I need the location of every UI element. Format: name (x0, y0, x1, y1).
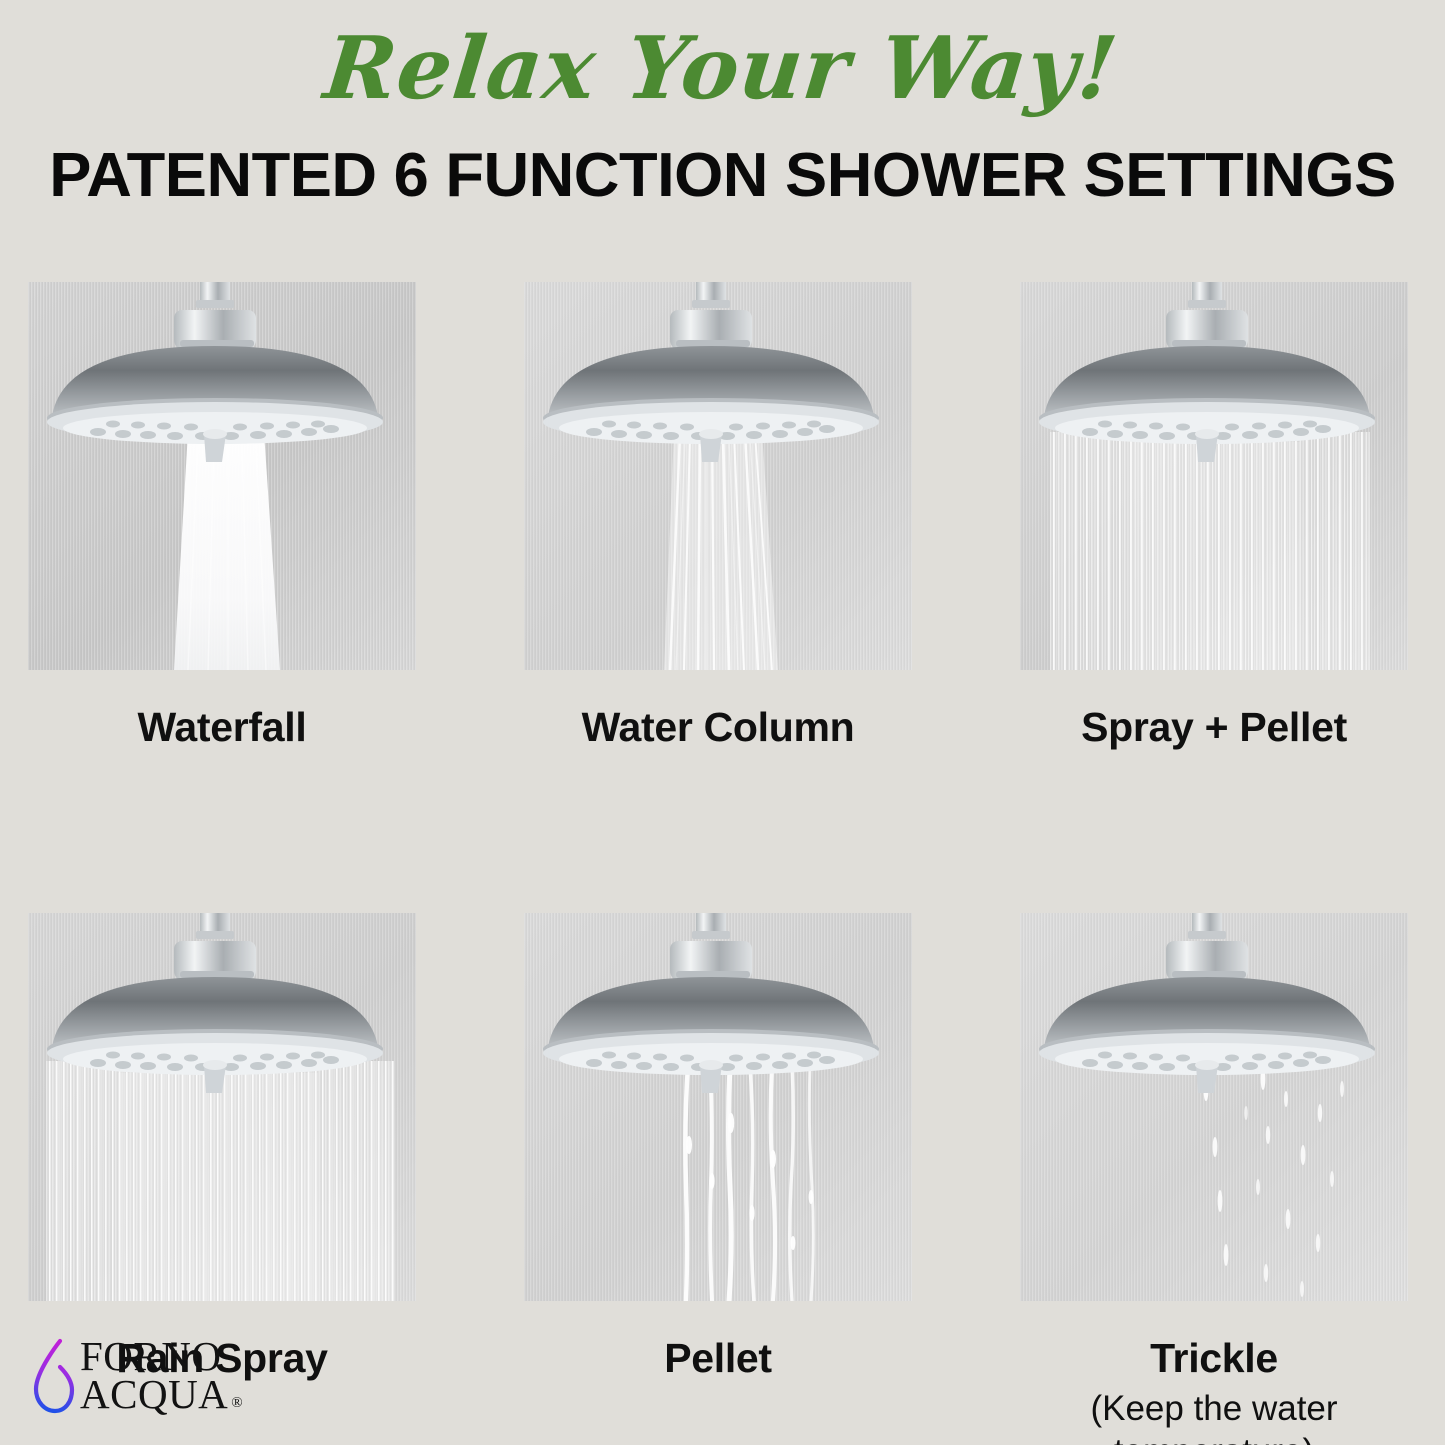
setting-label: Waterfall (28, 670, 416, 751)
product-photo-trickle (1020, 913, 1408, 1301)
product-photo-pellet (524, 913, 912, 1301)
logo-line-acqua: ACQUA ® (80, 1376, 243, 1414)
setting-label: Water Column (524, 670, 912, 751)
registered-trademark-icon: ® (231, 1397, 243, 1411)
setting-label: Trickle (1020, 1301, 1408, 1382)
brand-logo: FORNO ACQUA ® (30, 1337, 243, 1415)
page-title: PATENTED 6 FUNCTION SHOWER SETTINGS (0, 112, 1445, 211)
setting-card-trickle: Trickle (Keep the water temperature) (1020, 913, 1408, 1445)
product-photo-waterfall (28, 282, 416, 670)
setting-card-water-column: Water Column (524, 282, 912, 751)
infographic-page: Relax Your Way! PATENTED 6 FUNCTION SHOW… (0, 0, 1445, 1445)
setting-sublabel: (Keep the water temperature) (1020, 1382, 1408, 1445)
product-photo-spray-pellet (1020, 282, 1408, 670)
product-photo-rain-spray (28, 913, 416, 1301)
setting-card-spray-pellet: Spray + Pellet (1020, 282, 1408, 751)
setting-label: Pellet (524, 1301, 912, 1382)
logo-wordmark: FORNO ACQUA ® (80, 1338, 243, 1413)
header: Relax Your Way! PATENTED 6 FUNCTION SHOW… (0, 0, 1445, 211)
water-drop-icon (30, 1337, 76, 1415)
shower-settings-grid: Waterfall (28, 282, 1411, 1445)
setting-card-waterfall: Waterfall (28, 282, 416, 751)
logo-acqua-text: ACQUA (80, 1376, 228, 1414)
setting-label: Spray + Pellet (1020, 670, 1408, 751)
product-photo-water-column (524, 282, 912, 670)
script-title: Relax Your Way! (0, 0, 1445, 112)
setting-card-pellet: Pellet (524, 913, 912, 1445)
